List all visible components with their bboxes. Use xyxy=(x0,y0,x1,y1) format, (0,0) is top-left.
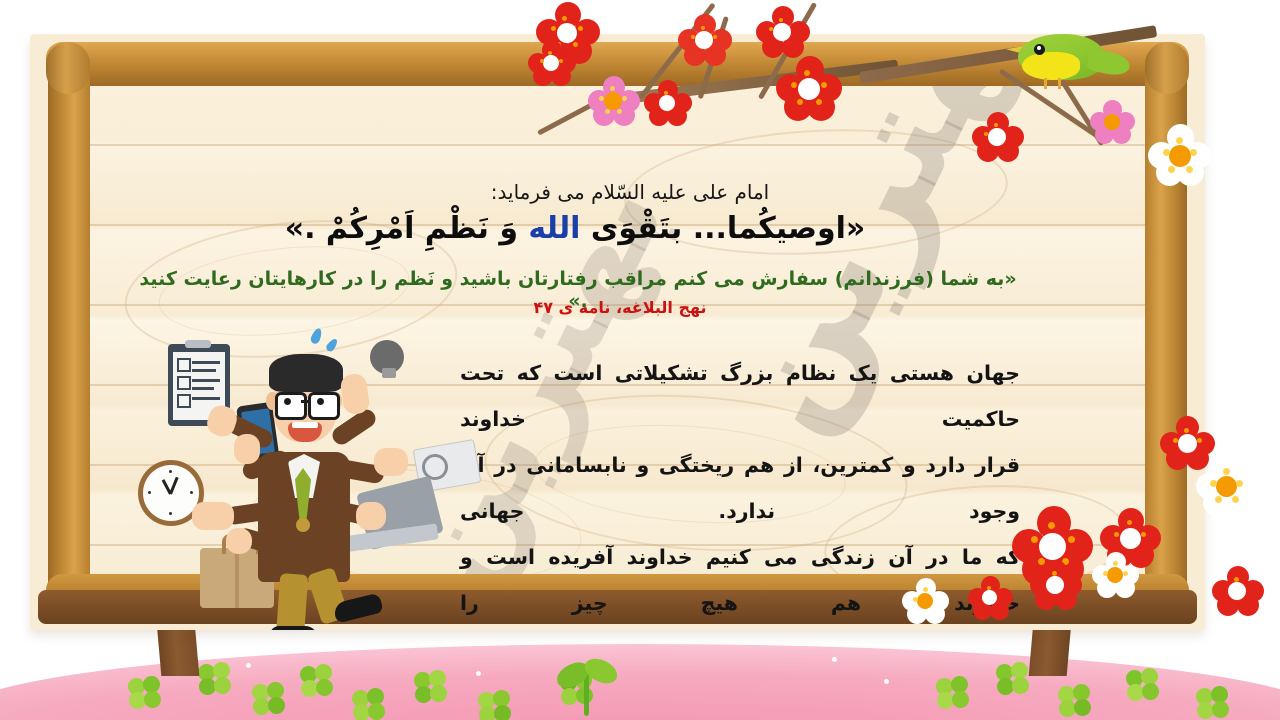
clover-leaf xyxy=(996,662,1030,696)
blossom-white xyxy=(1148,124,1210,186)
intro-line: امام علی علیه السّلام می فرماید: xyxy=(280,180,980,204)
frame-knob-top-right xyxy=(1145,42,1189,94)
hand-open-palm xyxy=(192,502,234,530)
clover-leaf xyxy=(1058,684,1092,718)
hand-phone xyxy=(234,434,260,464)
hand-laptop xyxy=(356,502,386,530)
bird-belly xyxy=(1022,52,1080,80)
body-line: جهان هستی یک نظام بزرگ تشکیلاتی است که ت… xyxy=(460,350,1020,442)
multitasking-businessman-illustration xyxy=(130,326,480,630)
teeth xyxy=(292,422,318,428)
sprout-plant xyxy=(556,660,616,716)
hadith-part-after: وَ نَظْمِ اَمْرِكُمْ .» xyxy=(285,211,529,246)
clover-leaf xyxy=(252,682,286,716)
leg-left xyxy=(276,573,309,630)
ground-dot xyxy=(476,671,481,676)
clover-leaf xyxy=(1196,686,1230,720)
blossom-red xyxy=(644,80,690,126)
blossom-red xyxy=(756,6,808,58)
frame-rail-left xyxy=(48,52,90,608)
glasses-lens-left xyxy=(275,392,307,420)
blossom-white xyxy=(1092,552,1138,598)
blossom-red xyxy=(528,40,574,86)
body-line: قرار دارد و کمترین، از هم ریختگی و نابسا… xyxy=(460,442,1020,534)
suit-button xyxy=(296,518,310,532)
hadith-word-allah: الله xyxy=(528,211,580,246)
bird-foot xyxy=(1044,78,1047,89)
bird-foot xyxy=(1058,78,1061,89)
body-line: بیهوده نمی آفرینند. پس در این آفریده خدا… xyxy=(460,626,1020,630)
bird-eye xyxy=(1034,44,1045,55)
lightbulb-base xyxy=(382,368,396,378)
ground-dot xyxy=(884,679,889,684)
hand-pointing-up xyxy=(339,372,370,415)
hand-briefcase xyxy=(226,528,252,554)
slide-canvas: بهترین بهترین امام علی علیه السّلام می ف… xyxy=(0,0,1280,720)
hadith-part-before: «اوصیکُما... بتَقْوَی xyxy=(580,211,865,246)
ground-dot xyxy=(832,657,837,662)
hadith-arabic: «اوصیکُما... بتَقْوَی الله وَ نَظْمِ اَم… xyxy=(170,210,980,248)
blossom-red xyxy=(678,14,730,66)
blossom-red xyxy=(972,112,1022,162)
shoe-left xyxy=(270,626,318,630)
sweat-drop xyxy=(325,337,340,353)
clipboard-clip xyxy=(185,340,211,348)
ground-dot xyxy=(246,663,251,668)
blossom-white xyxy=(902,578,948,624)
blossom-white xyxy=(1196,456,1256,516)
ground-dot xyxy=(1228,655,1233,660)
blossom-red xyxy=(1212,566,1262,616)
blossom-pink xyxy=(1090,100,1134,144)
hadith-source-citation: نهج البلاغه، نامه ی ۴۷ xyxy=(450,298,790,317)
bird-illustration xyxy=(1004,22,1124,92)
clover-leaf xyxy=(414,670,448,704)
clover-leaf xyxy=(936,676,970,710)
blossom-red xyxy=(776,56,840,120)
blossom-red xyxy=(968,576,1012,620)
clover-leaf xyxy=(300,664,334,698)
clover-leaf xyxy=(478,690,512,720)
blossom-red xyxy=(1030,560,1080,610)
frame-knob-top-left xyxy=(46,42,90,94)
clover-leaf xyxy=(198,662,232,696)
hand-thumbs-up xyxy=(374,448,408,476)
glasses-lens-right xyxy=(308,392,340,420)
clover-leaf xyxy=(1126,668,1160,702)
blossom-pink xyxy=(588,76,638,126)
clover-leaf xyxy=(128,676,162,710)
clover-leaf xyxy=(352,688,386,720)
sweat-drop xyxy=(309,327,323,345)
